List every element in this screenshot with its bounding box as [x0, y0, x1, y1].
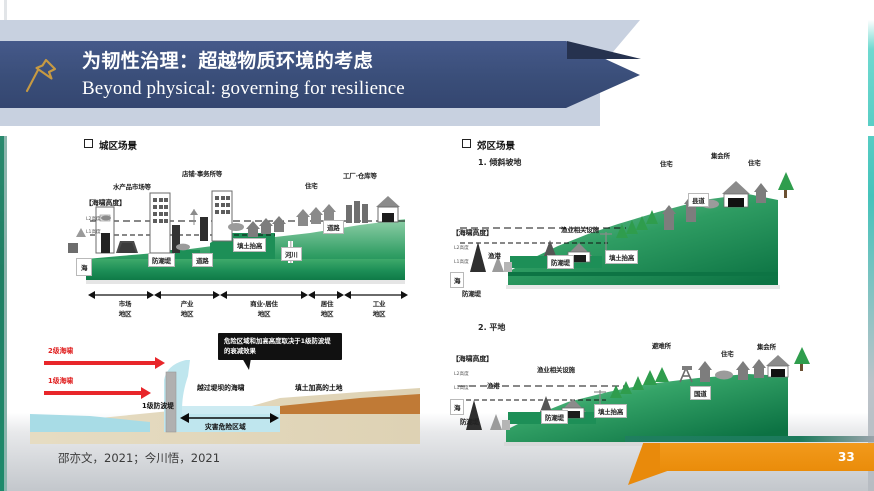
suburb2-label-landfill: 填土抬高 [594, 404, 627, 418]
tsunami-breakwater-label: 1级防波堤 [142, 400, 174, 410]
page-title: 为韧性治理：超越物质环境的考虑 Beyond physical: governi… [82, 48, 552, 102]
zone-label-industry-2: 地区 [162, 308, 212, 318]
zone-label-market-1: 市场 [100, 298, 150, 308]
suburb-case1-diagram [448, 160, 828, 295]
suburb2-label-sea: 海 [450, 399, 464, 415]
urban-tick-l1: L1高度 [86, 229, 101, 235]
bullet-square-icon-2 [462, 139, 471, 148]
bullet-square-icon [84, 139, 93, 148]
suburb1-label-sea: 海 [450, 272, 464, 288]
zone-label-commres-1: 商业-居住 [231, 298, 297, 308]
urban-label-seawall: 防潮堤 [148, 253, 175, 267]
suburb1-label-fishery: 渔业相关设施 [561, 224, 599, 234]
citation-text: 邵亦文，2021；今川悟，2021 [58, 450, 220, 466]
urban-label-road-2: 道路 [323, 220, 344, 234]
zone-label-ind-1: 工业 [356, 298, 402, 308]
suburb1-label-hall: 集会所 [711, 150, 730, 160]
suburb2-label-seawall: 防潮堤 [541, 410, 568, 424]
suburb1-label-landfill: 填土抬高 [605, 250, 638, 264]
tsunami-callout-tail [242, 358, 251, 370]
tsunami-filled-land-label: 填土加高的土地 [295, 382, 343, 392]
page-title-cn: 为韧性治理：超越物质环境的考虑 [82, 48, 552, 74]
suburb1-label-county-road: 县道 [688, 193, 709, 207]
urban-heading-text: 城区场景 [99, 141, 137, 152]
urban-label-sea: 海 [76, 258, 92, 276]
zone-label-res-1: 居住 [310, 298, 344, 308]
urban-axis-title: 【海啸高度】 [85, 198, 126, 208]
page-title-en: Beyond physical: governing for resilienc… [82, 75, 552, 102]
suburb2-label-national-road: 国道 [690, 386, 711, 400]
urban-label-factory: 工厂·仓库等 [343, 170, 377, 180]
suburb-panel-heading: 郊区场景 [462, 138, 515, 152]
suburb1-label-residence-1: 住宅 [660, 158, 673, 168]
suburb2-label-fishery: 渔业相关设施 [537, 364, 575, 374]
suburb1-axis-title: 【海啸高度】 [452, 228, 493, 238]
tsunami-level1-arrow [44, 391, 142, 395]
tsunami-level2-label: 2级海啸 [48, 345, 73, 355]
suburb1-label-harbor: 渔港 [488, 250, 501, 260]
zone-label-industry-1: 产业 [162, 298, 212, 308]
zone-label-commres-2: 地区 [231, 308, 297, 318]
zone-label-res-2: 地区 [310, 308, 344, 318]
top-white-band [0, 0, 874, 22]
page-number: 33 [838, 450, 855, 464]
suburb1-label-seawall-outer: 防潮堤 [462, 288, 481, 298]
suburb1-tick-l1: L1高度 [454, 259, 469, 265]
tsunami-level2-arrow [44, 361, 156, 365]
tsunami-callout: 危险区域和加高高度取决于1级防波堤的衰减效果 [218, 333, 342, 360]
urban-tick-l2: L2高度 [86, 216, 101, 222]
suburb-heading-text: 郊区场景 [477, 141, 515, 152]
suburb2-label-shelter: 避难所 [652, 340, 671, 350]
tsunami-overtopping-label: 越过堤坝的海啸 [197, 382, 245, 392]
urban-label-market: 水产品市场等 [113, 181, 151, 191]
suburb1-label-residence-2: 住宅 [748, 157, 761, 167]
pushpin-icon [22, 55, 60, 97]
suburb2-tick-l1: L1高度 [454, 385, 469, 391]
tsunami-hazard-zone-label: 灾害危险区域 [205, 421, 246, 431]
suburb2-axis-title: 【海啸高度】 [452, 354, 493, 364]
suburb2-label-hall: 集会所 [757, 341, 776, 351]
urban-panel-heading: 城区场景 [84, 138, 137, 152]
slide-root: 为韧性治理：超越物质环境的考虑 Beyond physical: governi… [0, 0, 874, 491]
suburb2-tick-l2: L2高度 [454, 371, 469, 377]
zone-label-ind-2: 地区 [356, 308, 402, 318]
right-accent-strip [868, 0, 874, 491]
urban-label-residence: 住宅 [305, 180, 318, 190]
suburb2-label-residence: 住宅 [721, 348, 734, 358]
suburb1-tick-l2: L2高度 [454, 245, 469, 251]
suburb1-label-seawall: 防潮堤 [547, 255, 574, 269]
header-underplate [0, 108, 600, 126]
zone-label-market-2: 地区 [100, 308, 150, 318]
tsunami-level1-label: 1级海啸 [48, 375, 73, 385]
suburb-case1-svg [448, 160, 828, 295]
header-gap [0, 126, 874, 136]
urban-label-road-1: 道路 [192, 253, 213, 267]
suburb2-label-harbor: 渔港 [487, 380, 500, 390]
urban-label-landfill: 填土抬高 [233, 238, 266, 252]
urban-label-shops: 店铺·事务所等 [182, 168, 222, 178]
urban-label-river: 河川 [281, 247, 302, 261]
footer-green-strip [625, 436, 874, 442]
suburb2-label-seawall-outer: 防潮堤 [460, 416, 479, 426]
